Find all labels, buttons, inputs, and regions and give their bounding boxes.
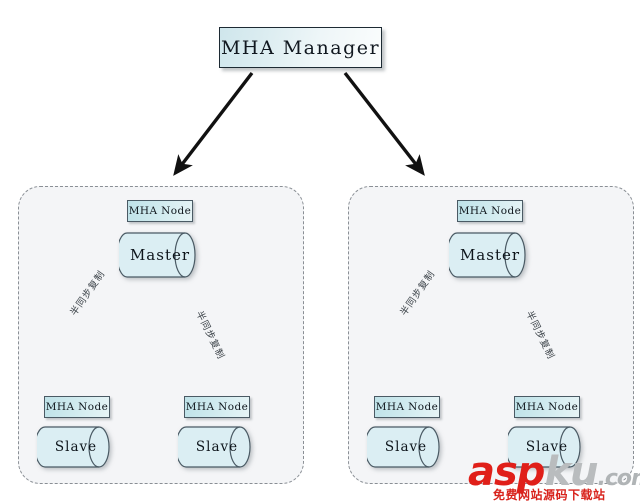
database-cylinder-icon <box>367 425 445 469</box>
arrow-manager-to-left-group <box>180 73 252 167</box>
diagram-canvas: MHA Manager MHA Node Master MHA Node Sla… <box>0 0 640 504</box>
group-right-slave-1-db[interactable]: Slave <box>367 425 445 469</box>
group-left-slave-2-db[interactable]: Slave <box>178 425 256 469</box>
group-right-slave-2-db[interactable]: Slave <box>508 425 586 469</box>
database-cylinder-icon <box>119 231 201 279</box>
database-cylinder-icon <box>449 231 531 279</box>
group-left-slave-2-mha-node[interactable]: MHA Node <box>184 396 250 418</box>
database-cylinder-icon <box>508 425 586 469</box>
mha-node-label: MHA Node <box>129 205 191 217</box>
mha-node-label: MHA Node <box>459 205 521 217</box>
group-right-slave-2-mha-node[interactable]: MHA Node <box>514 396 580 418</box>
group-left-master-mha-node[interactable]: MHA Node <box>127 200 193 222</box>
mha-manager-label: MHA Manager <box>221 37 380 59</box>
mha-manager-box[interactable]: MHA Manager <box>219 27 382 68</box>
mha-node-label: MHA Node <box>186 401 248 413</box>
group-right-master-mha-node[interactable]: MHA Node <box>457 200 523 222</box>
mha-node-label: MHA Node <box>516 401 578 413</box>
arrow-manager-to-right-group <box>345 73 418 167</box>
mha-node-label: MHA Node <box>376 401 438 413</box>
database-cylinder-icon <box>178 425 256 469</box>
group-left-master-db[interactable]: Master <box>119 231 201 279</box>
group-right-slave-1-mha-node[interactable]: MHA Node <box>374 396 440 418</box>
group-right-master-db[interactable]: Master <box>449 231 531 279</box>
mha-node-label: MHA Node <box>46 401 108 413</box>
group-left-slave-1-mha-node[interactable]: MHA Node <box>44 396 110 418</box>
database-cylinder-icon <box>37 425 115 469</box>
group-left-slave-1-db[interactable]: Slave <box>37 425 115 469</box>
